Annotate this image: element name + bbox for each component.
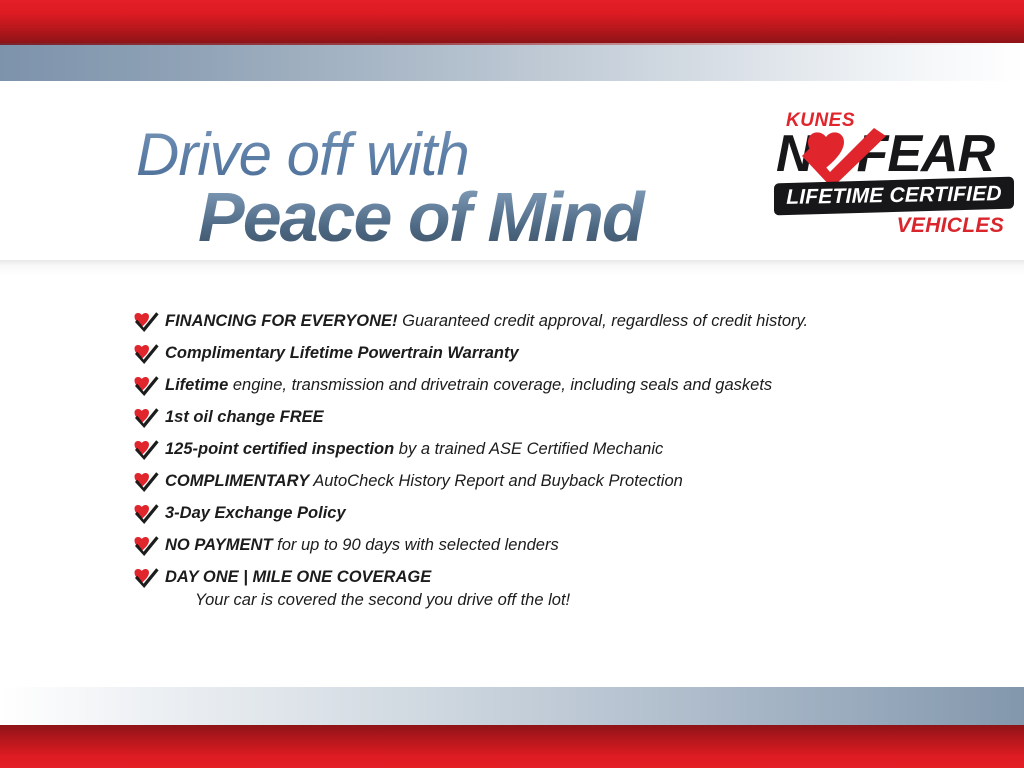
benefits-list: FINANCING FOR EVERYONE! Guaranteed credi… xyxy=(133,310,963,621)
check-heart-icon xyxy=(133,375,159,397)
list-item-text: NO PAYMENT for up to 90 days with select… xyxy=(165,534,963,556)
list-item: Lifetime engine, transmission and drivet… xyxy=(133,374,963,396)
kunes-no-fear-logo: KUNES NFEAR LIFETIME CERTIFIED VEHICLES xyxy=(772,110,1016,246)
list-item-rest: AutoCheck History Report and Buyback Pro… xyxy=(309,472,683,490)
top-banner-divider xyxy=(0,43,1024,45)
list-item-rest: Guaranteed credit approval, regardless o… xyxy=(398,312,809,330)
list-item: COMPLIMENTARY AutoCheck History Report a… xyxy=(133,470,963,492)
list-item-lead: 3-Day Exchange Policy xyxy=(165,504,346,522)
headline-line-1: Drive off with xyxy=(136,124,736,186)
check-heart-icon xyxy=(133,471,159,493)
list-item-lead: COMPLIMENTARY xyxy=(165,472,309,490)
list-item-subtext: Your car is covered the second you drive… xyxy=(165,589,963,611)
list-item-lead: DAY ONE | MILE ONE COVERAGE xyxy=(165,568,431,586)
logo-lifetime-bar: LIFETIME CERTIFIED xyxy=(774,177,1014,216)
list-item-lead: FINANCING FOR EVERYONE! xyxy=(165,312,398,330)
list-item-lead: 125-point certified inspection xyxy=(165,440,394,458)
list-item-lead: Lifetime xyxy=(165,376,228,394)
check-heart-icon xyxy=(133,439,159,461)
list-item-lead: NO PAYMENT xyxy=(165,536,273,554)
bottom-red-banner xyxy=(0,725,1024,768)
top-red-banner xyxy=(0,0,1024,43)
list-item-rest: engine, transmission and drivetrain cove… xyxy=(228,376,772,394)
list-item-text: COMPLIMENTARY AutoCheck History Report a… xyxy=(165,470,963,492)
header-divider xyxy=(0,260,1024,276)
bottom-gray-banner xyxy=(0,687,1024,725)
headline: Drive off with Peace of Mind xyxy=(136,124,736,254)
list-item-text: 3-Day Exchange Policy xyxy=(165,502,963,524)
list-item: 1st oil change FREE xyxy=(133,406,963,428)
list-item-lead: Complimentary Lifetime Powertrain Warran… xyxy=(165,344,519,362)
list-item: 3-Day Exchange Policy xyxy=(133,502,963,524)
list-item-lead: 1st oil change FREE xyxy=(165,408,324,426)
list-item-text: Lifetime engine, transmission and drivet… xyxy=(165,374,963,396)
top-gray-banner xyxy=(0,43,1024,81)
list-item-rest: by a trained ASE Certified Mechanic xyxy=(394,440,663,458)
list-item-text: Complimentary Lifetime Powertrain Warran… xyxy=(165,342,963,364)
list-item-text: FINANCING FOR EVERYONE! Guaranteed credi… xyxy=(165,310,963,332)
list-item: Complimentary Lifetime Powertrain Warran… xyxy=(133,342,963,364)
list-item-rest: for up to 90 days with selected lenders xyxy=(273,536,559,554)
logo-lifetime-text: LIFETIME CERTIFIED xyxy=(774,178,1014,214)
logo-checkmark-heart-icon xyxy=(800,126,886,188)
list-item-text: 125-point certified inspection by a trai… xyxy=(165,438,963,460)
check-heart-icon xyxy=(133,343,159,365)
check-heart-icon xyxy=(133,535,159,557)
list-item: 125-point certified inspection by a trai… xyxy=(133,438,963,460)
logo-vehicles-text: VEHICLES xyxy=(897,214,1004,238)
check-heart-icon xyxy=(133,407,159,429)
check-heart-icon xyxy=(133,311,159,333)
list-item-text: 1st oil change FREE xyxy=(165,406,963,428)
list-item: DAY ONE | MILE ONE COVERAGE Your car is … xyxy=(133,566,963,611)
list-item: NO PAYMENT for up to 90 days with select… xyxy=(133,534,963,556)
headline-line-2: Peace of Mind xyxy=(198,180,736,254)
check-heart-icon xyxy=(133,567,159,589)
list-item-text: DAY ONE | MILE ONE COVERAGE xyxy=(165,566,963,588)
check-heart-icon xyxy=(133,503,159,525)
list-item: FINANCING FOR EVERYONE! Guaranteed credi… xyxy=(133,310,963,332)
